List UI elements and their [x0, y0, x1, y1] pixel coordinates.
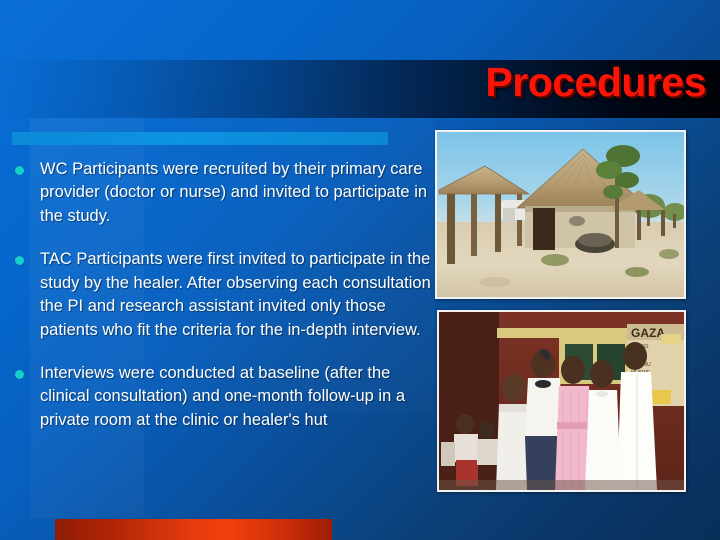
list-item-text: Interviews were conducted at baseline (a… [40, 362, 435, 432]
list-item: TAC Participants were first invited to p… [10, 248, 435, 342]
bullet-dot-icon [15, 166, 24, 175]
thatched-hut-photo [435, 130, 686, 299]
svg-text:GAZA: GAZA [631, 326, 665, 340]
list-item: Interviews were conducted at baseline (a… [10, 362, 435, 432]
health-workers-photo: GAZA GNESS NA-MI MBA-NU MUKWE YITAM LA H… [437, 310, 686, 492]
slide-canvas: Procedures WC Participants were recruite… [0, 0, 720, 540]
bullet-list: WC Participants were recruited by their … [10, 158, 435, 452]
bullet-dot-icon [15, 370, 24, 379]
title-underline-rule [12, 132, 388, 145]
list-item-text: WC Participants were recruited by their … [40, 158, 435, 228]
hut-photo-graphic [437, 132, 684, 297]
list-item-text: TAC Participants were first invited to p… [40, 248, 435, 342]
bottom-accent-bar [55, 519, 332, 540]
bullet-dot-icon [15, 256, 24, 265]
page-title: Procedures [485, 62, 706, 103]
list-item: WC Participants were recruited by their … [10, 158, 435, 228]
health-workers-photo-graphic: GAZA GNESS NA-MI MBA-NU MUKWE YITAM LA H… [439, 312, 684, 490]
